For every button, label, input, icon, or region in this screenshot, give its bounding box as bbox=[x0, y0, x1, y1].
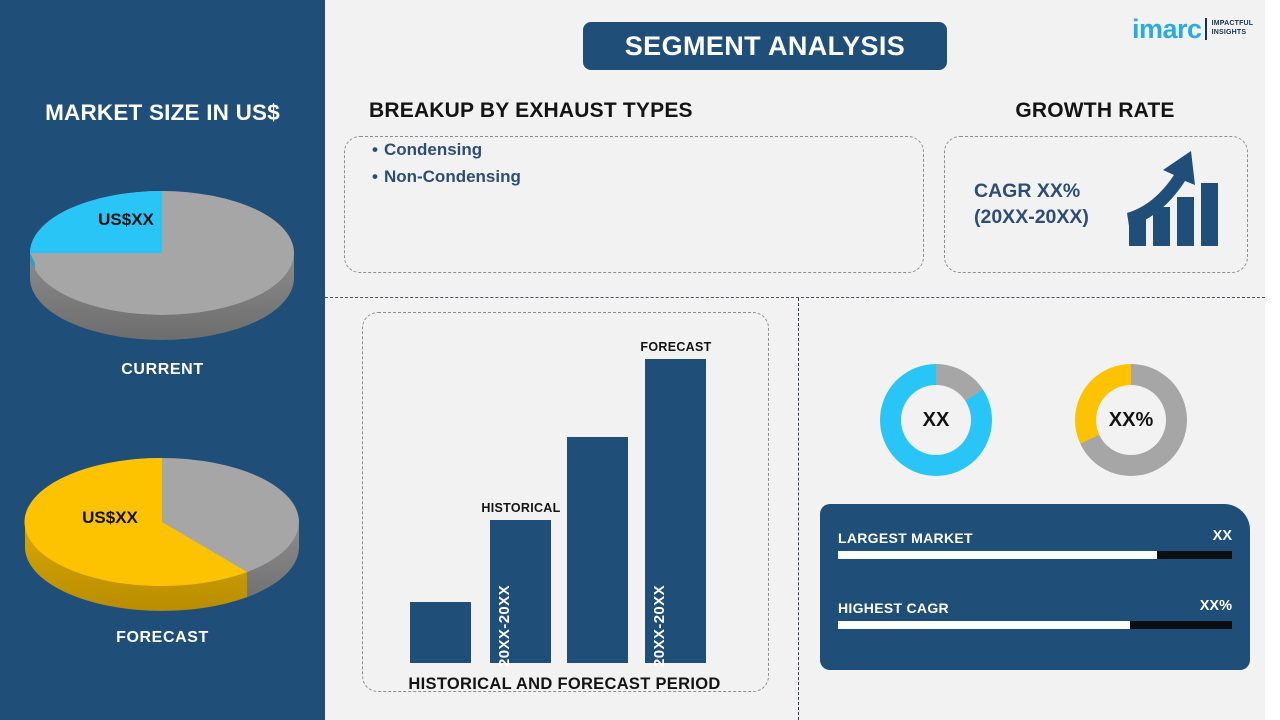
current-pie-caption: CURRENT bbox=[0, 361, 325, 379]
bar-4-top-label: FORECAST bbox=[620, 340, 732, 354]
bar-2-inline-label: 20XX-20XX bbox=[496, 585, 513, 667]
sidebar-market-size: MARKET SIZE IN US$ US$XX CURRENT bbox=[0, 0, 325, 720]
largest-market-donut: XX bbox=[880, 364, 992, 476]
stat-label: HIGHEST CAGR bbox=[838, 600, 949, 616]
right-margin bbox=[1265, 0, 1280, 720]
imarc-wordmark: imarc bbox=[1132, 16, 1202, 43]
logo-tagline: IMPACTFUL INSIGHTS bbox=[1212, 20, 1254, 38]
infographic-page: MARKET SIZE IN US$ US$XX CURRENT bbox=[0, 0, 1280, 720]
stat-label: LARGEST MARKET bbox=[838, 530, 973, 546]
cagr-line1: CAGR XX% bbox=[974, 178, 1089, 204]
barchart-footer-label: HISTORICAL AND FORECAST PERIOD bbox=[362, 675, 767, 694]
stat-progress-track bbox=[838, 621, 1232, 629]
current-pie-value-label: US$XX bbox=[66, 210, 186, 230]
stats-card: LARGEST MARKET XX HIGHEST CAGR XX% bbox=[820, 504, 1250, 670]
bar-chart: HISTORICAL 20XX-20XX FORECAST 20XX-20XX bbox=[325, 0, 798, 720]
forecast-pie-chart: US$XX bbox=[0, 430, 325, 620]
cagr-line2: (20XX-20XX) bbox=[974, 204, 1089, 230]
largest-market-donut-label: XX bbox=[901, 385, 971, 455]
growth-arrow-bars-icon bbox=[1125, 143, 1225, 253]
bar-4-inline-label: 20XX-20XX bbox=[651, 585, 668, 667]
bar-3 bbox=[567, 437, 628, 663]
cagr-text: CAGR XX% (20XX-20XX) bbox=[974, 178, 1089, 231]
sidebar-title: MARKET SIZE IN US$ bbox=[0, 100, 325, 126]
bar-2-top-label: HISTORICAL bbox=[465, 501, 577, 515]
stat-progress-track bbox=[838, 551, 1232, 559]
growth-section-title: GROWTH RATE bbox=[944, 99, 1246, 123]
current-pie-svg bbox=[0, 160, 325, 340]
logo-divider-icon bbox=[1205, 18, 1207, 40]
bar-1 bbox=[410, 602, 471, 663]
stat-value: XX bbox=[1213, 528, 1232, 544]
current-pie-chart: US$XX bbox=[0, 160, 325, 340]
stat-value: XX% bbox=[1200, 598, 1232, 614]
highest-cagr-donut: XX% bbox=[1075, 364, 1187, 476]
forecast-pie-caption: FORECAST bbox=[0, 629, 325, 647]
imarc-logo: imarc IMPACTFUL INSIGHTS bbox=[1132, 14, 1253, 44]
forecast-pie-value-label: US$XX bbox=[48, 508, 172, 528]
logo-tagline-line2: INSIGHTS bbox=[1212, 29, 1247, 36]
stat-progress-fill bbox=[838, 621, 1130, 629]
logo-tagline-line1: IMPACTFUL bbox=[1212, 20, 1254, 27]
highest-cagr-donut-label: XX% bbox=[1096, 385, 1166, 455]
vertical-divider bbox=[798, 298, 799, 720]
stat-progress-fill bbox=[838, 551, 1157, 559]
